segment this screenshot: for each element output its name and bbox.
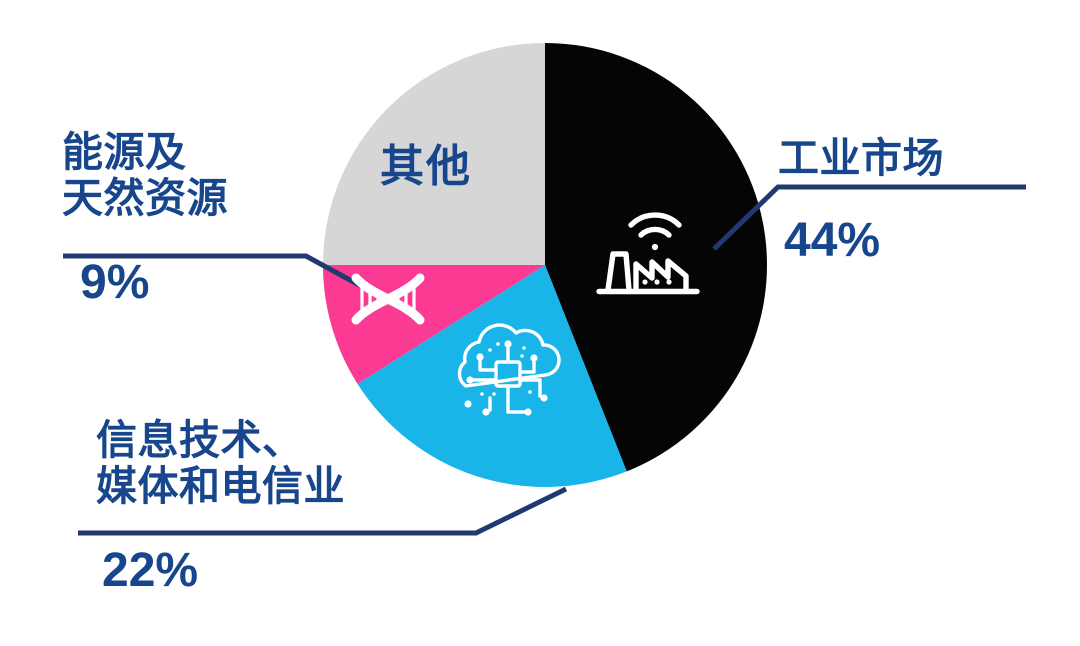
- callout-tmt-percent: 22%: [102, 544, 466, 598]
- callout-industrial-category: 工业市场: [778, 136, 1048, 182]
- callout-industrial[interactable]: 工业市场 44%: [778, 118, 1048, 285]
- callout-tmt[interactable]: 信息技术、 媒体和电信业 22%: [96, 400, 466, 615]
- callout-industrial-percent: 44%: [784, 214, 1048, 268]
- callout-tmt-category: 信息技术、 媒体和电信业: [96, 418, 466, 510]
- slice-label-other: 其他: [380, 130, 472, 194]
- callout-energy[interactable]: 能源及 天然资源 9%: [62, 112, 332, 327]
- callout-energy-percent: 9%: [80, 256, 332, 310]
- callout-energy-category: 能源及 天然资源: [62, 130, 332, 222]
- infographic-canvas: 其他 能源及 天然资源 9% 工业市场 44% 信息技术、 媒体和电信业 22%: [0, 0, 1080, 646]
